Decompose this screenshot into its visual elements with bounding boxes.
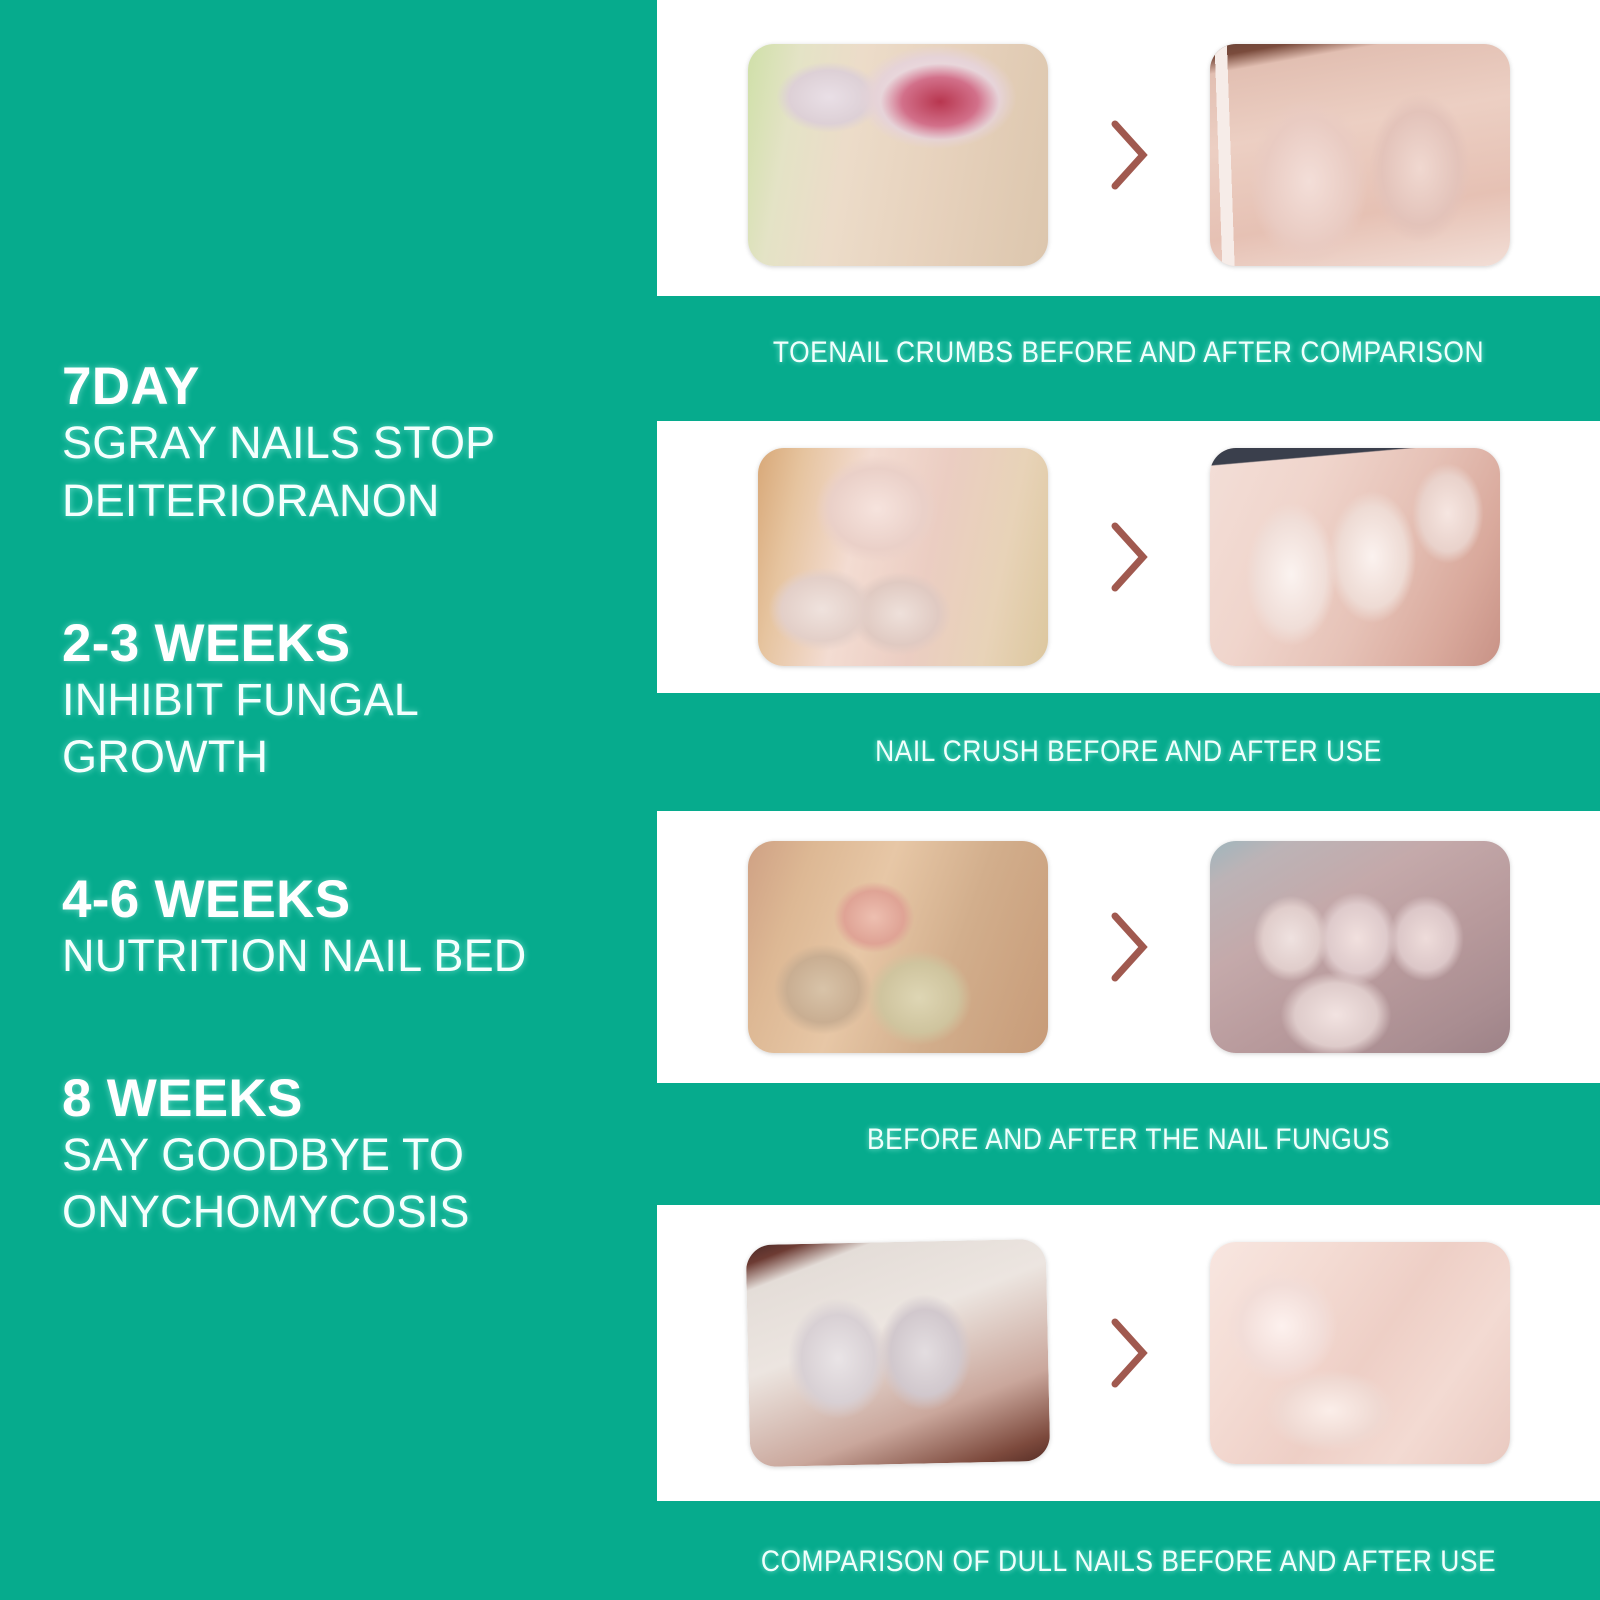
photo-panel <box>657 811 1600 1083</box>
timeline-stage-8-weeks: 8 WEEKS SAY GOODBYE TO ONYCHOMYCOSIS <box>62 1071 640 1241</box>
stage-benefit-label: SGRAY NAILS STOP DEITERIORANON <box>62 414 582 529</box>
nail-treatment-infographic: 7DAY SGRAY NAILS STOP DEITERIORANON 2-3 … <box>0 0 1600 1600</box>
photo-panel <box>657 421 1600 693</box>
chevron-right-icon <box>1106 1314 1152 1392</box>
photo-panel <box>657 0 1600 296</box>
panel-caption: TOENAIL CRUMBS BEFORE AND AFTER COMPARIS… <box>714 336 1544 370</box>
timeline-stage-7-day: 7DAY SGRAY NAILS STOP DEITERIORANON <box>62 359 640 529</box>
before-after-comparison-column: TOENAIL CRUMBS BEFORE AND AFTER COMPARIS… <box>657 0 1600 1600</box>
panel-caption: NAIL CRUSH BEFORE AND AFTER USE <box>714 735 1544 769</box>
nail-fungus-before-photo <box>748 841 1048 1053</box>
stage-duration-label: 7DAY <box>62 359 640 414</box>
nail-crush-before-photo <box>758 448 1048 666</box>
stage-duration-label: 8 WEEKS <box>62 1071 640 1126</box>
comparison-group-dull-nails: COMPARISON OF DULL NAILS BEFORE AND AFTE… <box>657 1205 1600 1579</box>
panel-caption: BEFORE AND AFTER THE NAIL FUNGUS <box>714 1123 1544 1157</box>
photo-panel <box>657 1205 1600 1501</box>
comparison-group-toenail-crumbs: TOENAIL CRUMBS BEFORE AND AFTER COMPARIS… <box>657 0 1600 370</box>
nail-fungus-after-photo <box>1210 841 1510 1053</box>
toenail-crumbs-after-photo <box>1210 44 1510 266</box>
stage-benefit-label: INHIBIT FUNGAL GROWTH <box>62 671 582 786</box>
stage-duration-label: 2-3 WEEKS <box>62 616 640 671</box>
treatment-timeline-list: 7DAY SGRAY NAILS STOP DEITERIORANON 2-3 … <box>0 0 640 1600</box>
dull-nails-after-photo <box>1210 1242 1510 1464</box>
panel-caption: COMPARISON OF DULL NAILS BEFORE AND AFTE… <box>714 1545 1544 1579</box>
toenail-crumbs-before-photo <box>748 44 1048 266</box>
nail-crush-after-photo <box>1210 448 1500 666</box>
chevron-right-icon <box>1106 116 1152 194</box>
comparison-group-nail-crush: NAIL CRUSH BEFORE AND AFTER USE <box>657 421 1600 769</box>
dull-nails-before-photo <box>745 1239 1050 1467</box>
chevron-right-icon <box>1106 908 1152 986</box>
timeline-stage-2-3-weeks: 2-3 WEEKS INHIBIT FUNGAL GROWTH <box>62 616 640 786</box>
stage-duration-label: 4-6 WEEKS <box>62 872 640 927</box>
stage-benefit-label: SAY GOODBYE TO ONYCHOMYCOSIS <box>62 1126 582 1241</box>
chevron-right-icon <box>1106 518 1152 596</box>
timeline-stage-4-6-weeks: 4-6 WEEKS NUTRITION NAIL BED <box>62 872 640 985</box>
comparison-group-nail-fungus: BEFORE AND AFTER THE NAIL FUNGUS <box>657 811 1600 1157</box>
stage-benefit-label: NUTRITION NAIL BED <box>62 927 582 985</box>
